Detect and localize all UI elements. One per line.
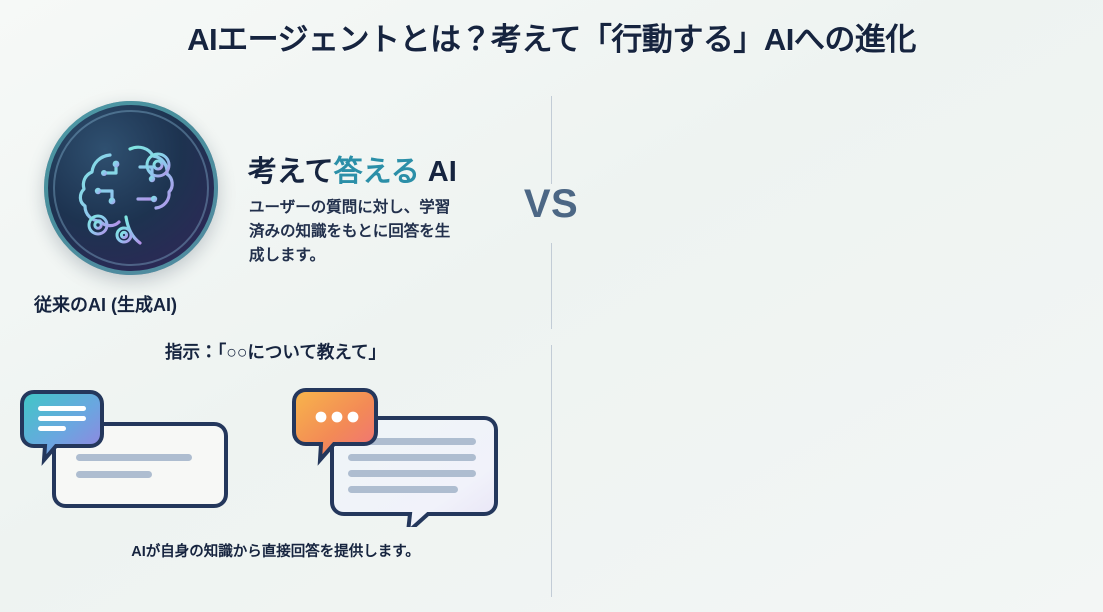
left-footnote: AIが自身の知識から直接回答を提供します。 <box>0 540 551 561</box>
right-pane-ai-agent: 考えて行動する AI 外部ツールを使い、自律的にタスクを計画・実行します。 <box>552 0 1103 612</box>
left-heading-prefix: 考えて <box>248 156 334 188</box>
left-instruction: 指示：「○○について教えて」 <box>0 339 551 364</box>
left-heading-suffix: AI <box>420 156 457 188</box>
circuit-brain-gears-icon <box>44 101 218 275</box>
left-heading-accent: 答える <box>334 156 420 188</box>
left-pane-traditional-ai: 考えて答える AI ユーザーの質問に対し、学習済みの知識をもとに回答を生成します… <box>0 0 551 612</box>
infographic-canvas: AIエージェントとは？考えて「行動する」AIへの進化 VS <box>0 0 1103 612</box>
left-heading: 考えて答える AI <box>248 148 457 190</box>
left-body-text: ユーザーの質問に対し、学習済みの知識をもとに回答を生成します。 <box>249 196 464 268</box>
two-chat-bubbles-icon <box>10 382 540 527</box>
left-caption: 従来のAI (生成AI) <box>34 291 177 317</box>
